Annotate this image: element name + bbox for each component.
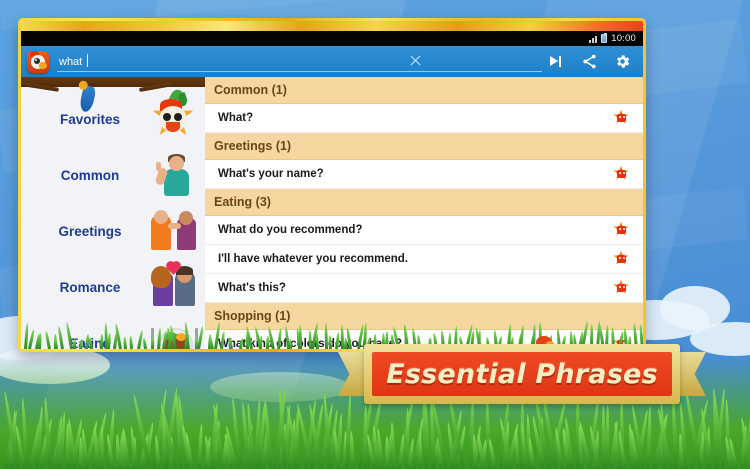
common-person-pointing-icon bbox=[147, 152, 201, 198]
tablet-screen: 10:00 bbox=[21, 21, 643, 349]
signal-bars-icon bbox=[589, 35, 597, 43]
sidebar-item-favorites[interactable]: Favorites bbox=[21, 91, 205, 147]
greetings-two-people-icon bbox=[147, 208, 201, 254]
parrot-app-icon[interactable] bbox=[27, 51, 49, 73]
text-cursor bbox=[87, 54, 88, 67]
list-item[interactable]: What's your name? bbox=[205, 160, 643, 189]
tablet-device-frame: 10:00 bbox=[18, 18, 646, 352]
speak-parrot-icon[interactable] bbox=[611, 280, 633, 296]
app-action-bar bbox=[21, 46, 643, 77]
sidebar-item-eating[interactable]: Eating bbox=[21, 315, 205, 349]
speak-parrot-icon[interactable] bbox=[611, 222, 633, 238]
category-sidebar: Favorites Common Greetings bbox=[21, 77, 205, 349]
section-header: Eating (3) bbox=[205, 189, 643, 216]
section-header: Shopping (1) bbox=[205, 303, 643, 330]
phrase-text: What's your name? bbox=[218, 168, 611, 180]
list-item[interactable]: What's this? bbox=[205, 274, 643, 303]
section-header: Greetings (1) bbox=[205, 133, 643, 160]
phrase-text: I'll have whatever you recommend. bbox=[218, 253, 611, 265]
android-status-bar: 10:00 bbox=[21, 31, 643, 46]
action-bar-buttons bbox=[548, 53, 637, 70]
cloud bbox=[210, 372, 350, 402]
phrase-text: What do you recommend? bbox=[218, 224, 611, 236]
phrase-text: What's this? bbox=[218, 282, 611, 294]
romance-couple-kissing-icon bbox=[147, 264, 201, 310]
sidebar-item-label: Romance bbox=[21, 280, 147, 295]
clear-search-icon[interactable] bbox=[409, 54, 422, 67]
sidebar-item-greetings[interactable]: Greetings bbox=[21, 203, 205, 259]
sidebar-item-label: Greetings bbox=[21, 224, 147, 239]
sidebar-item-label: Eating bbox=[21, 336, 147, 350]
banner-gold-plate: Essential Phrases bbox=[364, 344, 680, 404]
speak-parrot-icon[interactable] bbox=[611, 251, 633, 267]
search-input[interactable] bbox=[57, 54, 542, 72]
list-item[interactable]: I'll have whatever you recommend. bbox=[205, 245, 643, 274]
banner-title: Essential Phrases bbox=[386, 359, 658, 390]
gold-top-strip bbox=[21, 21, 643, 31]
speak-parrot-icon[interactable] bbox=[611, 166, 633, 182]
battery-icon bbox=[601, 34, 607, 43]
favorites-parrot-star-icon bbox=[147, 96, 201, 142]
app-content: Favorites Common Greetings bbox=[21, 77, 643, 349]
settings-gear-icon[interactable] bbox=[614, 53, 631, 70]
phrase-text: What? bbox=[218, 112, 611, 124]
list-item[interactable]: What do you recommend? bbox=[205, 216, 643, 245]
eating-plate-of-food-icon bbox=[147, 320, 201, 349]
status-time: 10:00 bbox=[611, 33, 636, 44]
section-header: Common (1) bbox=[205, 77, 643, 104]
phrase-list[interactable]: Common (1) What? Greetings (1) What's yo… bbox=[205, 77, 643, 349]
share-icon[interactable] bbox=[581, 53, 598, 70]
sidebar-item-romance[interactable]: Romance bbox=[21, 259, 205, 315]
sidebar-item-common[interactable]: Common bbox=[21, 147, 205, 203]
speak-parrot-icon[interactable] bbox=[611, 110, 633, 126]
search-container bbox=[57, 52, 542, 72]
skip-next-icon[interactable] bbox=[548, 53, 565, 70]
banner-red-field: Essential Phrases bbox=[372, 352, 672, 396]
essential-phrases-banner: Essential Phrases bbox=[338, 340, 706, 408]
sidebar-item-label: Common bbox=[21, 168, 147, 183]
list-item[interactable]: What? bbox=[205, 104, 643, 133]
sidebar-item-label: Favorites bbox=[21, 112, 147, 127]
